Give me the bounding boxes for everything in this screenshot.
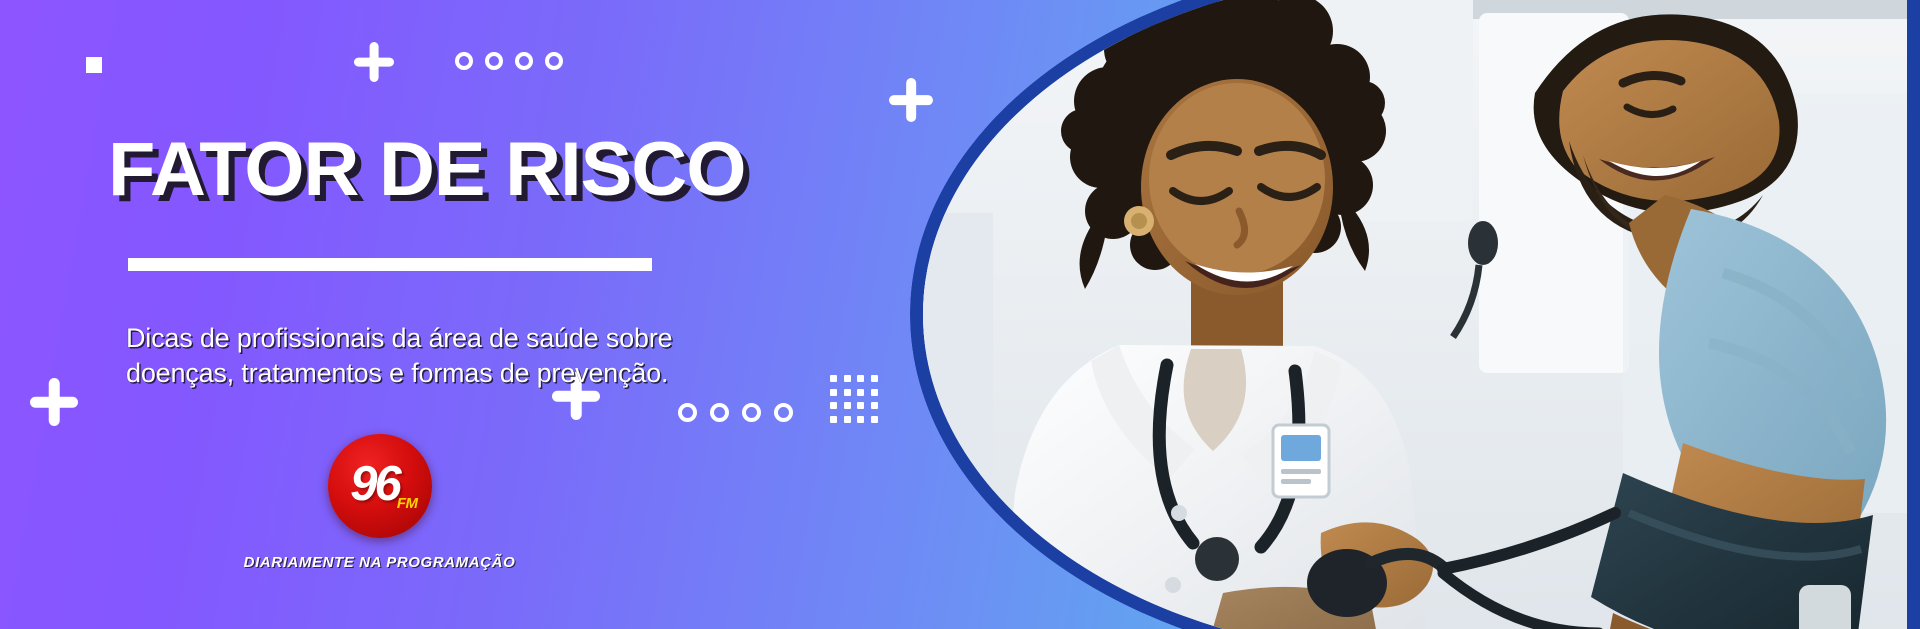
photo-clip bbox=[923, 0, 1907, 629]
subtitle-line-2: doenças, tratamentos e formas de prevenç… bbox=[126, 356, 726, 391]
page-title: FATOR DE RISCO bbox=[108, 132, 746, 208]
photo-panel bbox=[910, 0, 1920, 629]
ring-icon bbox=[515, 52, 533, 70]
subtitle: Dicas de profissionais da área de saúde … bbox=[126, 321, 726, 390]
ring-icon bbox=[742, 403, 761, 422]
ring-icon bbox=[485, 52, 503, 70]
ring-icon bbox=[678, 403, 697, 422]
ring-icon bbox=[710, 403, 729, 422]
title-underline bbox=[128, 258, 652, 271]
station-logo: 96 FM DIARIAMENTE NA PROGRAMAÇÃO bbox=[287, 434, 472, 571]
clinic-photo bbox=[923, 0, 1907, 629]
plus-icon bbox=[354, 42, 394, 82]
logo-caption: DIARIAMENTE NA PROGRAMAÇÃO bbox=[244, 554, 516, 571]
subtitle-line-1: Dicas de profissionais da área de saúde … bbox=[126, 321, 726, 356]
logo-band-label: FM bbox=[397, 496, 418, 511]
ring-icon bbox=[774, 403, 793, 422]
ring-icon bbox=[545, 52, 563, 70]
logo-circle: 96 FM bbox=[328, 434, 432, 538]
plus-icon bbox=[30, 378, 78, 426]
logo-station-number: 96 bbox=[350, 460, 399, 509]
square-icon bbox=[86, 57, 102, 73]
promo-banner: FATOR DE RISCO Dicas de profissionais da… bbox=[0, 0, 1920, 629]
dot-grid-icon bbox=[827, 372, 881, 426]
ring-icon bbox=[455, 52, 473, 70]
